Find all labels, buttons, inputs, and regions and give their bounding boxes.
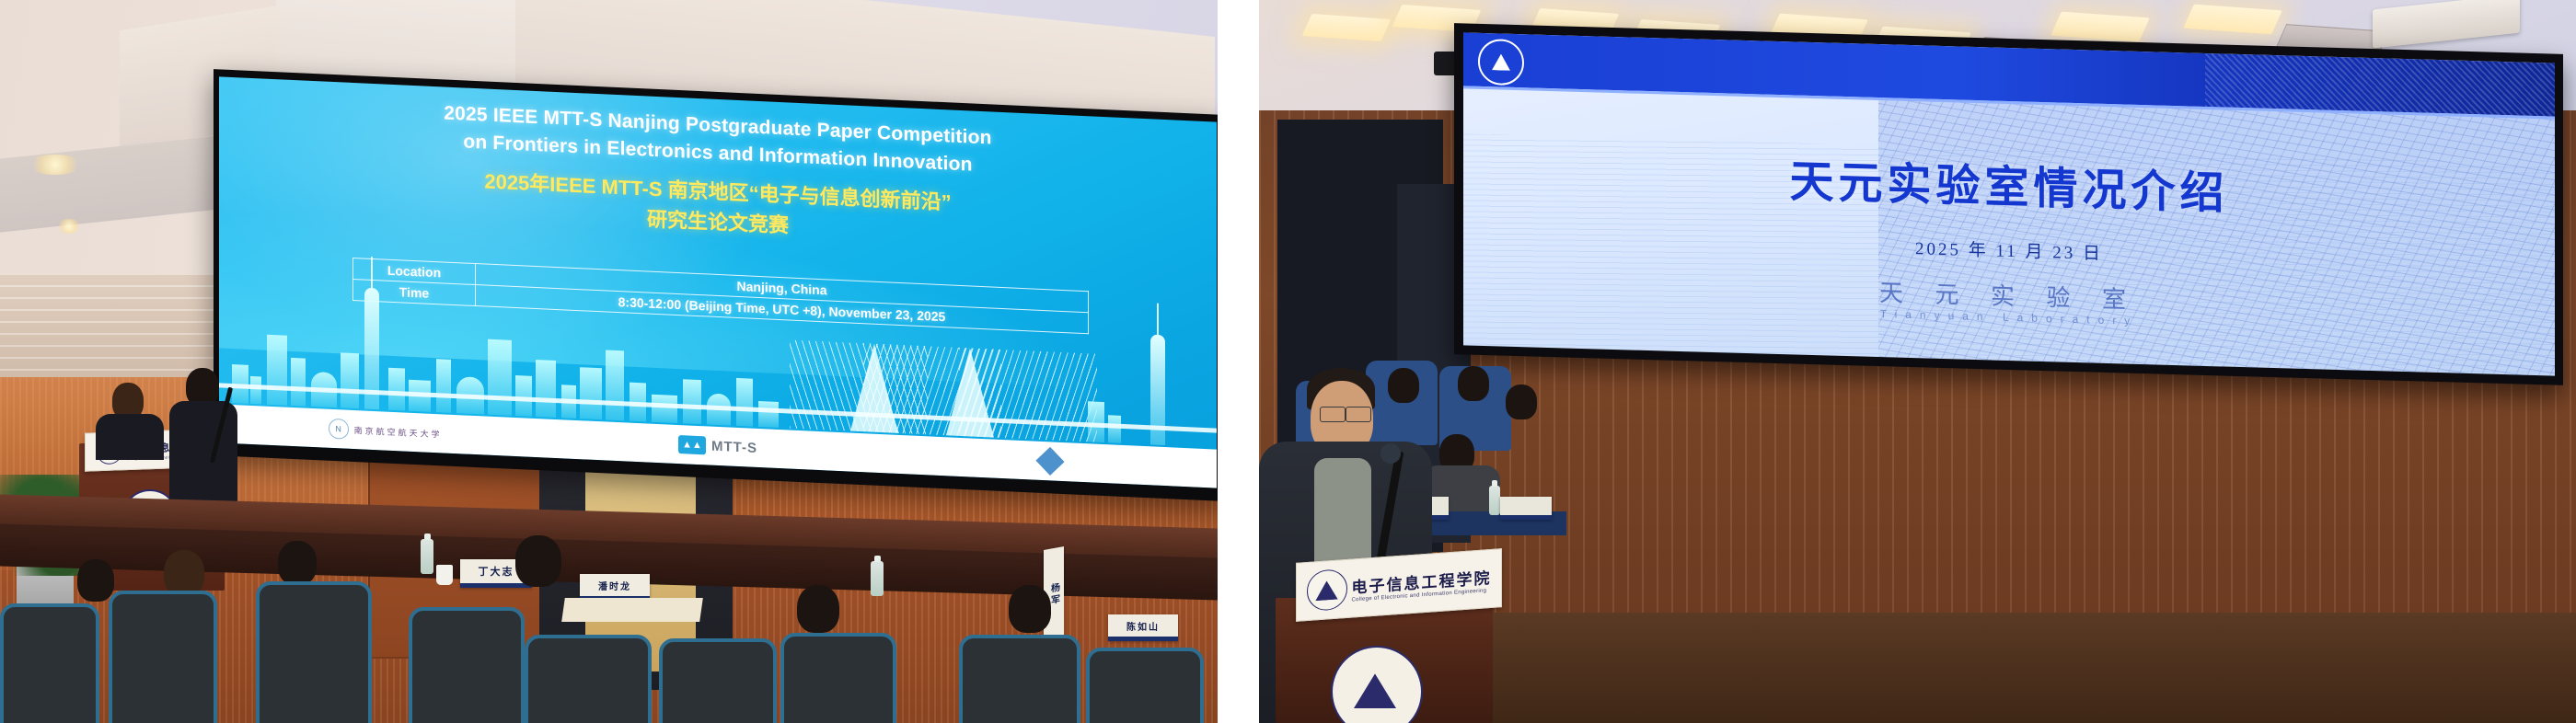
name-placard: 陈如山 [1108, 614, 1178, 641]
water-bottle [871, 561, 884, 596]
ceiling-spotlight [28, 155, 83, 175]
water-bottle [421, 539, 433, 574]
audience-head [164, 550, 204, 596]
audience-head [1458, 366, 1489, 401]
audience-head [278, 541, 317, 585]
mtt-s-icon: ▲▲ [678, 435, 706, 454]
nuaa-icon: N [329, 419, 349, 440]
name-placard-label: 陈如山 [1126, 619, 1160, 633]
audience-head [515, 535, 561, 587]
audience-head [1388, 368, 1419, 403]
left-photo: 2025 IEEE MTT-S Nanjing Postgraduate Pap… [0, 0, 1218, 723]
audience-chair [409, 607, 525, 723]
sponsor-logo-diamond [884, 443, 1217, 478]
ceiling-spotlight [57, 219, 81, 234]
name-placard: 潘时龙 [580, 574, 650, 601]
speaker-sweater-front [1314, 458, 1371, 568]
audience-chair [659, 638, 777, 723]
sponsor-logo-nuaa-label: 南京航空航天大学 [354, 424, 443, 440]
name-placard-label: 丁大志 [479, 564, 514, 579]
name-placard [1500, 497, 1552, 520]
screenshot-root: 2025 IEEE MTT-S Nanjing Postgraduate Pap… [0, 0, 2576, 723]
audience-chair [780, 633, 896, 723]
audience-head [797, 585, 839, 633]
speaker-body [96, 414, 164, 460]
microphone-head [1380, 443, 1401, 464]
sponsor-logo-mtts: ▲▲ MTT-S [551, 430, 884, 463]
mtt-s-label: MTT-S [711, 438, 757, 455]
led-screen: 天元实验室情况介绍 2025 年 11 月 23 日 天 元 实 验 室 Tia… [1463, 32, 2555, 375]
sponsor-logo-nuaa: N 南京航空航天大学 [219, 413, 551, 448]
name-placard-label: 潘时龙 [598, 579, 631, 592]
eyeglasses-icon [1346, 407, 1371, 422]
paper-cup [436, 565, 453, 585]
ceie-nuaa-seal-icon [1307, 568, 1347, 612]
water-bottle [1489, 486, 1500, 515]
nuaa-logo-icon [1478, 39, 1524, 86]
audience-chair [109, 591, 217, 723]
podium-seal-mark [1331, 646, 1419, 723]
diamond-icon [1036, 447, 1065, 476]
audience-chair [0, 603, 99, 723]
right-photo: 天元实验室情况介绍 2025 年 11 月 23 日 天 元 实 验 室 Tia… [1259, 0, 2576, 723]
audience-chair [1086, 648, 1204, 723]
audience-chair [959, 635, 1080, 723]
audience-chair [256, 581, 372, 723]
audience-head [1009, 585, 1051, 633]
led-screen: 2025 IEEE MTT-S Nanjing Postgraduate Pap… [219, 76, 1217, 488]
paper-sheet [561, 598, 703, 622]
audience-head [77, 559, 114, 602]
audience-chair [525, 635, 652, 723]
audience-head [1506, 384, 1537, 419]
slide-header-texture [2205, 53, 2555, 117]
eyeglasses-icon [1320, 407, 1346, 422]
